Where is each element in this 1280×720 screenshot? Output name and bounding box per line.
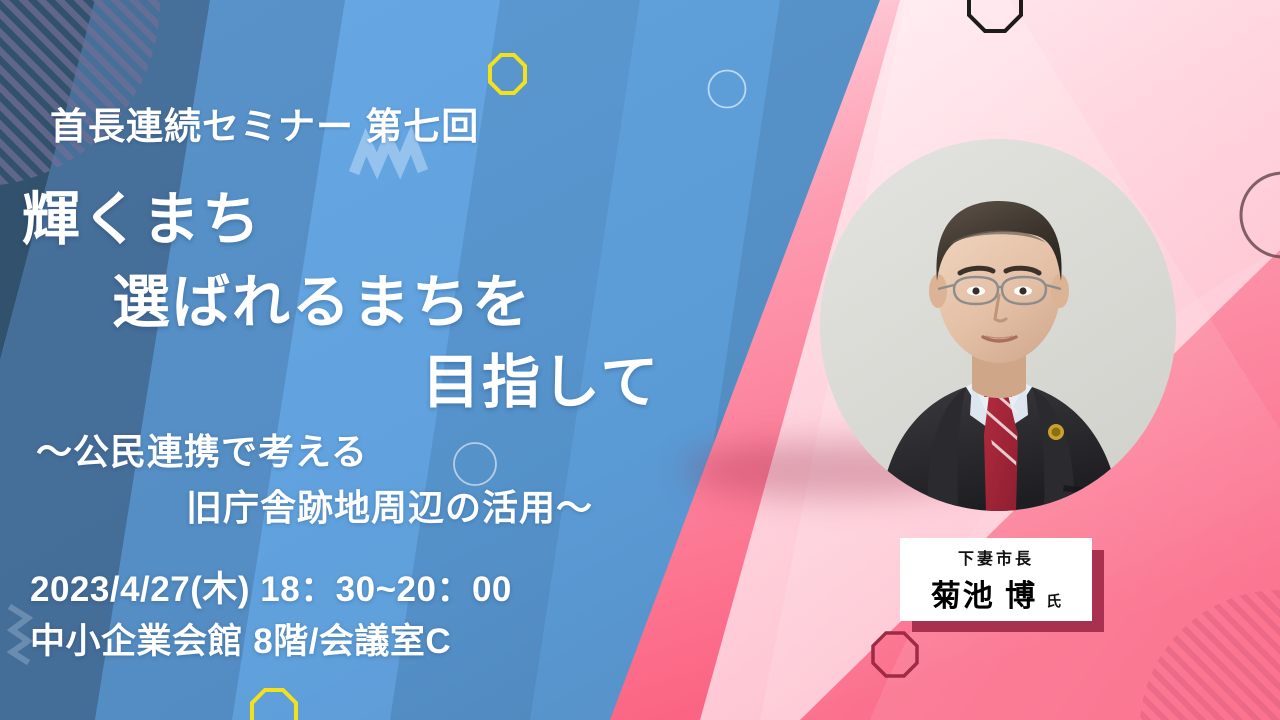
text-block: 首長連続セミナー 第七回 輝くまち 選ばれるまちを 目指して 〜公民連携で考える… xyxy=(0,0,740,720)
headline-line-2: 選ばれるまちを xyxy=(112,255,532,339)
speaker-name-row: 菊池 博 氏 xyxy=(931,571,1061,615)
octagon-maroon-bottom-right xyxy=(873,633,917,676)
name-plate: 下妻市長 菊池 博 氏 xyxy=(900,538,1092,621)
poster-canvas: 首長連続セミナー 第七回 輝くまち 選ばれるまちを 目指して 〜公民連携で考える… xyxy=(0,0,1280,720)
headline-line-1: 輝くまち xyxy=(22,172,262,256)
headline-line-3: 目指して xyxy=(422,335,660,419)
circle-outline-right-edge xyxy=(1241,173,1280,257)
event-venue: 中小企業会館 8階/会議室C xyxy=(30,613,451,664)
octagon-dark-top-right xyxy=(969,0,1021,31)
subtitle-line-2: 旧庁舎跡地周辺の活用〜 xyxy=(186,479,593,531)
speaker-name: 菊池 博 xyxy=(931,571,1037,615)
event-datetime: 2023/4/27(木) 18：30~20：00 xyxy=(30,561,512,612)
speaker-name-suffix: 氏 xyxy=(1046,590,1061,611)
speaker-portrait xyxy=(820,139,1176,511)
hatched-circle-bottom-right xyxy=(1100,560,1280,720)
seminar-kicker: 首長連続セミナー 第七回 xyxy=(50,96,479,150)
speaker-title: 下妻市長 xyxy=(958,545,1034,569)
subtitle-line-1: 〜公民連携で考える xyxy=(36,423,368,475)
